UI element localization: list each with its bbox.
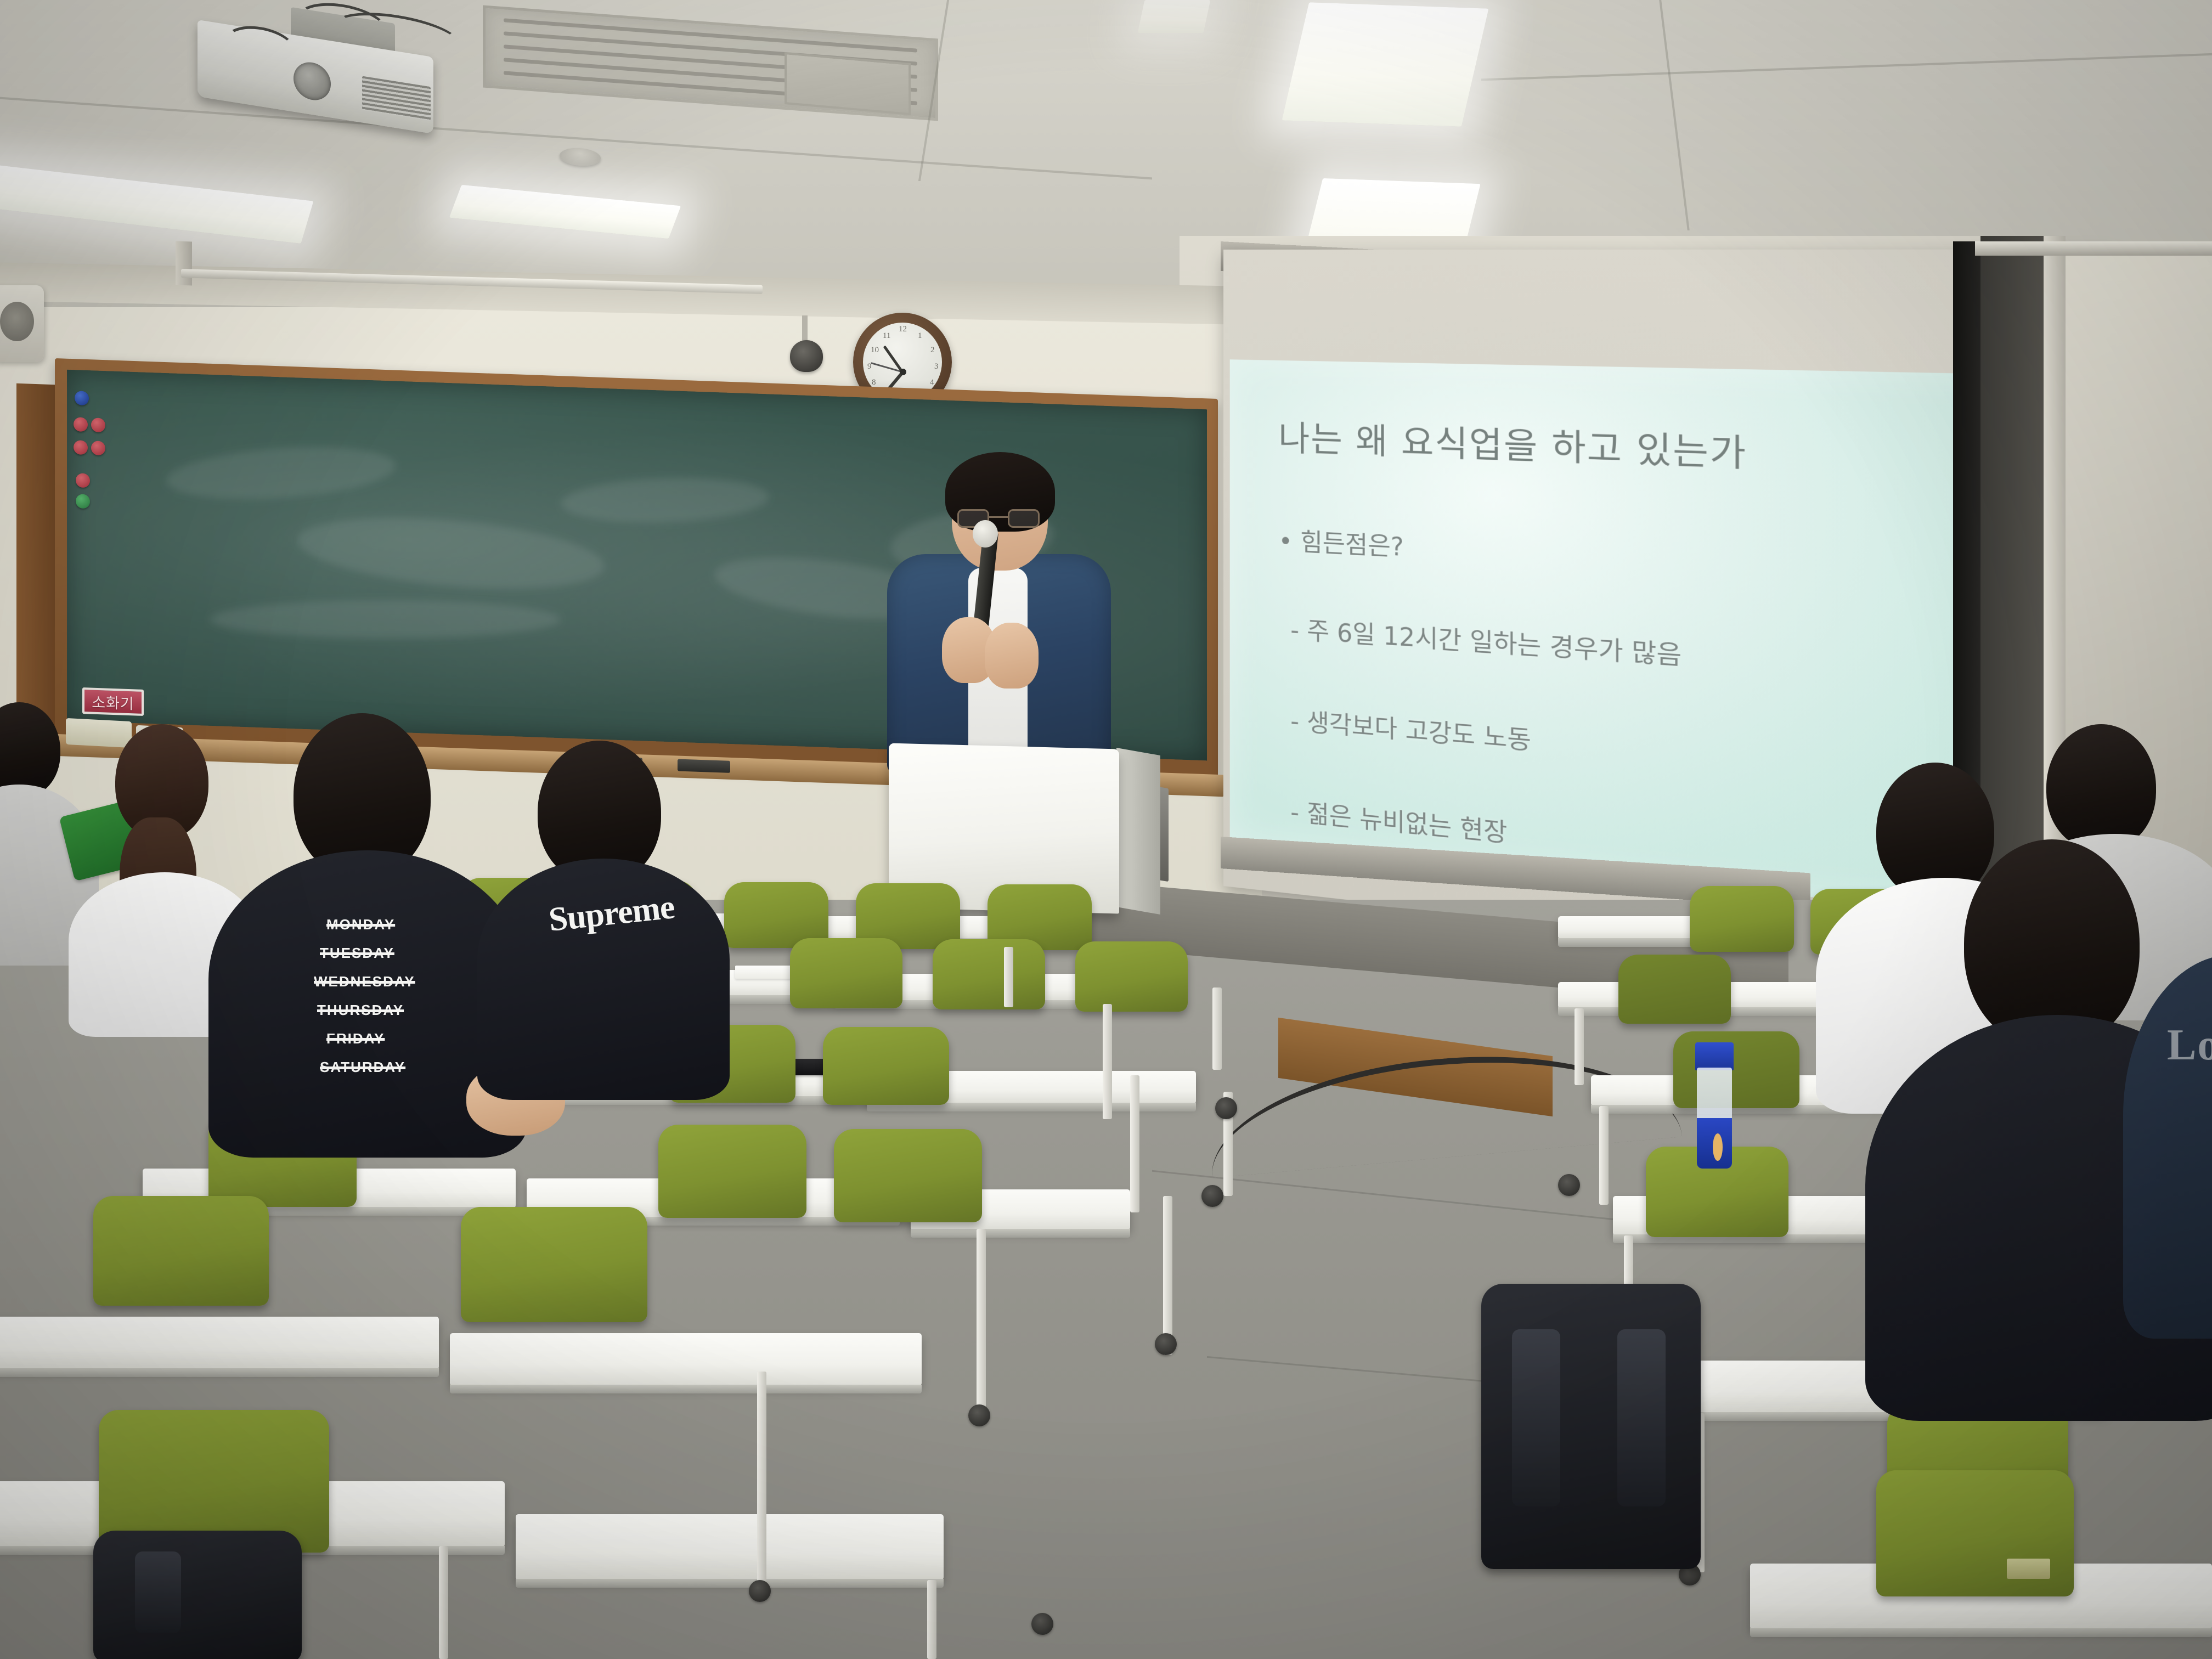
slide-bullet-text: 생각보다 고강도 노동 [1307,708,1531,755]
desk-leg [1599,1106,1609,1205]
desk-caster [749,1580,771,1602]
board-magnet [76,494,90,509]
desk [516,1514,944,1580]
board-magnet [74,440,88,455]
audience-member-weekday-tee: MONDAY TUESDAY WEDNESDAY THURSDAY FRIDAY… [230,713,494,1141]
clock-numeral: 11 [883,331,890,341]
board-magnet [74,417,88,432]
chair[interactable] [1690,886,1794,952]
person-head [2046,724,2156,850]
board-magnet [75,391,89,405]
audience-member-hoodie: Supreme [483,741,713,1081]
clock-numeral: 12 [899,325,907,334]
clock-numeral: 1 [918,331,922,341]
ceiling-light-panel [1138,0,1211,33]
clock-numeral: 4 [930,378,934,387]
slide-bullet-marker: • [1278,527,1293,556]
tee-line: TUESDAY [320,945,394,962]
desk-caster [968,1404,990,1426]
tee-line: THURSDAY [317,1002,404,1019]
desk-caster [1215,1097,1237,1119]
backpack[interactable] [93,1531,302,1659]
water-bottle[interactable] [1695,1042,1734,1169]
bottle-cap [1695,1042,1734,1070]
slide-bullet-text: 주 6일 12시간 일하는 경우가 많음 [1307,617,1681,671]
chair[interactable] [1618,955,1731,1024]
chair[interactable] [1876,1470,2074,1596]
ceiling-air-vent-small [785,52,911,115]
bottle-label-graphic [1713,1133,1723,1161]
audience-member: Lo [2123,955,2212,1339]
desk-leg [1212,988,1222,1070]
desk-leg [1103,1004,1112,1119]
slide-bullet-marker: - [1290,798,1299,827]
tee-line: FRIDAY [326,1030,385,1047]
desk-leg [977,1229,986,1415]
slide-bullet-marker: - [1290,707,1299,736]
clock-center-pin [900,369,906,375]
board-magnet [76,473,90,488]
lectern-side-panel [1116,748,1160,915]
slide-title: 나는 왜 요식업을 하고 있는가 [1278,410,2037,488]
speaker-cone-icon [0,302,34,341]
wall-rail-bracket [176,241,192,285]
desk-caster [1558,1174,1580,1196]
slide-bullet-marker: - [1290,616,1299,645]
tee-line: WEDNESDAY [314,973,415,990]
slide-bullet: - 주 6일 12시간 일하는 경우가 많음 [1290,610,2037,697]
chair[interactable] [790,938,902,1008]
desk [0,1317,439,1369]
slide-bullet: • 힘든점은? [1278,521,2037,597]
tee-line: MONDAY [326,916,395,933]
tee-line: SATURDAY [320,1059,405,1076]
desk-leg [1163,1196,1172,1355]
desk-leg [1575,1008,1584,1085]
clock-numeral: 3 [934,362,939,371]
microphone-icon [973,520,998,548]
chair[interactable] [461,1207,647,1322]
ceiling-light-panel [1282,2,1489,127]
chair[interactable] [834,1129,982,1222]
board-magnet [91,441,105,455]
chair[interactable] [933,939,1045,1009]
desk-leg [757,1372,766,1591]
person-torso [2123,955,2212,1339]
backpack[interactable] [1481,1284,1701,1569]
backpack-strap [1512,1329,1560,1506]
chair[interactable] [658,1125,806,1218]
desk-leg [1130,1075,1139,1212]
classroom-photo: 12 1 2 3 4 5 6 7 8 9 10 11 [0,0,2212,1659]
glasses-icon [957,509,1040,528]
chair[interactable] [93,1196,269,1306]
slide-bullet-text: 힘든점은? [1300,528,1404,562]
desk-leg [439,1546,448,1659]
wall-speaker [0,285,44,362]
desk-leg [927,1580,936,1659]
backpack-strap [135,1551,181,1633]
slide-bullet-text: 젊은 뉴비없는 현장 [1307,799,1507,848]
apparel-graphic: Lo [2167,1020,2212,1070]
person-head [0,702,60,798]
desk-caster [1201,1185,1223,1207]
chair[interactable] [1075,941,1188,1012]
ceiling-camera-icon [790,340,823,372]
chair[interactable] [823,1027,949,1105]
desk-leg [1004,947,1013,1007]
desk-caster [1155,1333,1177,1355]
board-magnet [91,417,105,432]
backpack-strap [1617,1329,1666,1506]
desk [450,1333,922,1386]
presenter [881,461,1116,768]
chair[interactable] [1673,1031,1799,1108]
clock-numeral: 8 [872,378,876,387]
window-top-rail [1975,241,2212,256]
clock-numeral: 10 [871,346,879,355]
presenter-hand [985,623,1039,689]
desk-caster [1031,1613,1053,1635]
clock-numeral: 2 [930,346,935,355]
